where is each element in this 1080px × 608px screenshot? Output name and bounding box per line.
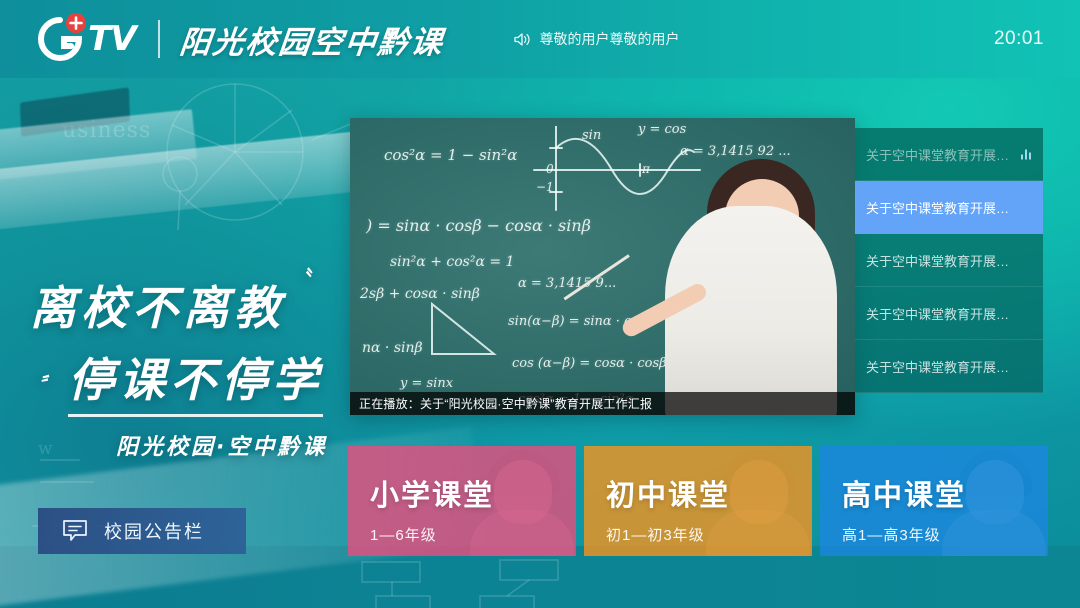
category-card-primary[interactable]: 小学课堂 1—6年级	[348, 446, 576, 556]
card-subtitle: 1—6年级	[370, 524, 494, 545]
now-playing-bar: 正在播放：关于“阳光校园·空中黔课”教育开展工作汇报	[350, 392, 855, 415]
blackboard-equation: cos²α = 1 − sin²α	[384, 146, 517, 164]
channel-logo[interactable]: TV	[34, 13, 136, 65]
playlist-item-1[interactable]: 关于空中课堂教育开展…	[855, 128, 1043, 181]
top-header-bar: TV 阳光校园空中黔课 尊敬的用户尊敬的用户 20:01	[0, 0, 1080, 78]
blackboard-equation: nα · sinβ	[362, 340, 423, 356]
campus-bulletin-button[interactable]: 校园公告栏	[38, 508, 246, 554]
tv-home-screen: usiness w TV 阳光校园	[0, 0, 1080, 608]
plus-badge-icon	[66, 13, 86, 33]
playlist-item-2[interactable]: 关于空中课堂教育开展…	[855, 181, 1043, 234]
card-title: 初中课堂	[606, 472, 730, 514]
blackboard-equation: y = sinx	[400, 376, 453, 391]
card-text-block: 小学课堂 1—6年级	[370, 472, 494, 545]
quote-mark-bottom-icon: 〞	[36, 368, 64, 402]
category-card-junior[interactable]: 初中课堂 初1—初3年级	[584, 446, 812, 556]
playlist-item-label: 关于空中课堂教育开展…	[866, 251, 1009, 270]
playlist-panel: 关于空中课堂教育开展… 关于空中课堂教育开展… 关于空中课堂教育开展… 关于空中…	[855, 128, 1043, 393]
clock: 20:01	[994, 28, 1044, 50]
equalizer-icon	[1021, 149, 1031, 160]
blackboard-equation: sin²α + cos²α = 1	[390, 254, 514, 270]
logo-tv-text: TV	[88, 19, 136, 59]
teacher-body	[665, 206, 837, 415]
blackboard-equation: cos (α−β) = cosα · cosβ	[512, 356, 667, 371]
announcement-ticker[interactable]: 尊敬的用户尊敬的用户	[514, 29, 680, 49]
hero-slogan: 〝 〞 离校不离教 停课不停学 阳光校园·空中黔课	[30, 272, 327, 461]
playlist-item-label: 关于空中课堂教育开展…	[866, 357, 1009, 376]
logo-g-icon	[34, 13, 86, 65]
playlist-item-5[interactable]: 关于空中课堂教育开展…	[855, 340, 1043, 393]
brand-title: 阳光校园空中黔课	[177, 17, 446, 62]
playlist-item-4[interactable]: 关于空中课堂教育开展…	[855, 287, 1043, 340]
playlist-item-label: 关于空中课堂教育开展…	[866, 198, 1009, 217]
blackboard-equation: ) = sinα · cosβ − cosα · sinβ	[366, 216, 591, 235]
card-text-block: 高中课堂 高1—高3年级	[842, 472, 966, 545]
hero-line-2: 停课不停学	[68, 344, 323, 417]
speaker-icon	[514, 32, 531, 47]
card-subtitle: 初1—初3年级	[606, 524, 730, 545]
card-title: 高中课堂	[842, 472, 966, 514]
video-player[interactable]: cos²α = 1 − sin²α sin y = cos α = 3,1415…	[350, 118, 855, 415]
category-card-row: 小学课堂 1—6年级 初中课堂 初1—初3年级	[348, 446, 1048, 556]
header-divider	[158, 20, 160, 58]
hero-line-1: 离校不离教	[30, 272, 327, 338]
category-card-senior[interactable]: 高中课堂 高1—高3年级	[820, 446, 1048, 556]
blackboard-triangle-sketch	[424, 294, 510, 360]
blackboard-equation: α = 3,1415 9...	[518, 276, 616, 291]
playlist-item-label: 关于空中课堂教育开展…	[866, 145, 1009, 164]
now-playing-text: 正在播放：关于“阳光校园·空中黔课”教育开展工作汇报	[359, 395, 652, 412]
blackboard-sine-graph	[528, 126, 708, 216]
card-title: 小学课堂	[370, 472, 494, 514]
card-text-block: 初中课堂 初1—初3年级	[606, 472, 730, 545]
playlist-item-3[interactable]: 关于空中课堂教育开展…	[855, 234, 1043, 287]
announcement-text: 尊敬的用户尊敬的用户	[540, 29, 680, 49]
message-board-icon	[62, 519, 88, 543]
campus-bulletin-label: 校园公告栏	[104, 518, 204, 544]
hero-subtitle: 阳光校园·空中黔课	[116, 429, 327, 461]
playlist-item-label: 关于空中课堂教育开展…	[866, 304, 1009, 323]
card-subtitle: 高1—高3年级	[842, 524, 966, 545]
